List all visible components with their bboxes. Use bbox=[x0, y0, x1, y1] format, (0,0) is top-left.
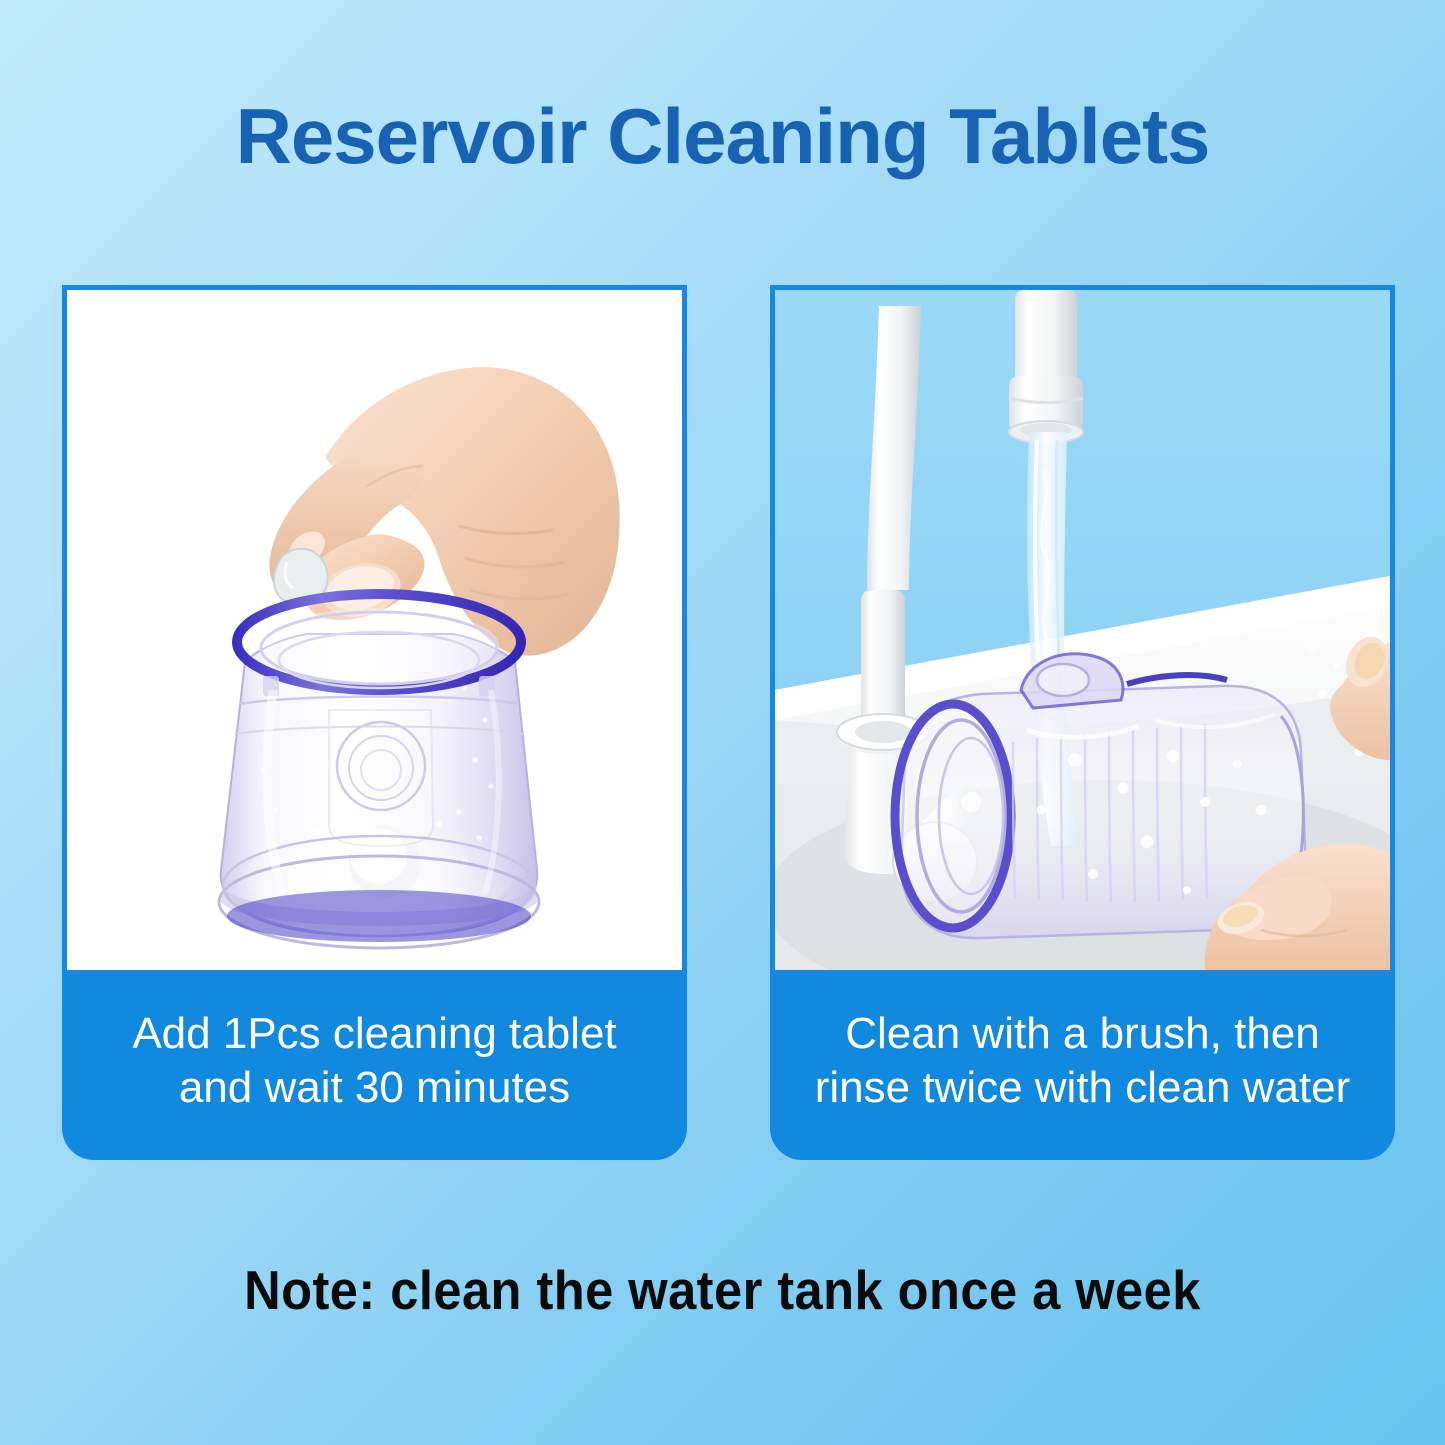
step-2-caption-text: Clean with a brush, then rinse twice wit… bbox=[815, 1007, 1351, 1114]
step-2-caption-line1: Clean with a brush, then bbox=[845, 1009, 1320, 1058]
step-1-caption: Add 1Pcs cleaning tablet and wait 30 min… bbox=[62, 975, 687, 1160]
tablet-drop-illustration bbox=[67, 290, 682, 970]
step-1-caption-text: Add 1Pcs cleaning tablet and wait 30 min… bbox=[132, 1007, 616, 1114]
step-2-caption-line2: rinse twice with clean water bbox=[815, 1063, 1351, 1112]
reservoir-valve-detail bbox=[329, 710, 433, 846]
water-reservoir-graphic bbox=[219, 594, 539, 948]
step-1-caption-line1: Add 1Pcs cleaning tablet bbox=[132, 1009, 616, 1058]
faucet-spout bbox=[1009, 290, 1083, 443]
step-1-caption-line2: and wait 30 minutes bbox=[179, 1063, 570, 1112]
step-card-2: Clean with a brush, then rinse twice wit… bbox=[770, 285, 1395, 1160]
infographic-stage: Reservoir Cleaning Tablets bbox=[0, 0, 1445, 1445]
step-1-photo bbox=[62, 285, 687, 975]
step-2-photo bbox=[770, 285, 1395, 975]
page-title: Reservoir Cleaning Tablets bbox=[0, 96, 1445, 178]
rinse-under-faucet-illustration bbox=[775, 290, 1390, 970]
footer-note: Note: clean the water tank once a week bbox=[58, 1258, 1387, 1322]
step-2-caption: Clean with a brush, then rinse twice wit… bbox=[770, 975, 1395, 1160]
step-card-1: Add 1Pcs cleaning tablet and wait 30 min… bbox=[62, 285, 687, 1160]
